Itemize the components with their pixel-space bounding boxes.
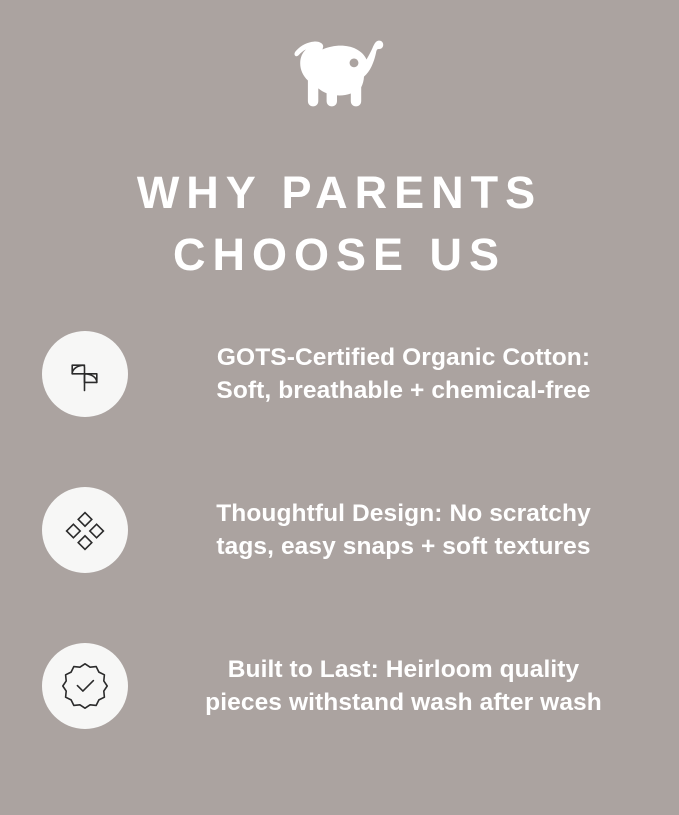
feature-text: GOTS-Certified Organic Cotton: Soft, bre…: [150, 341, 663, 407]
feature-item-thoughtful-design: Thoughtful Design: No scratchy tags, eas…: [0, 452, 679, 608]
feature-text-line-2: Soft, breathable + chemical-free: [216, 377, 590, 404]
feature-text-line-1: GOTS-Certified Organic Cotton:: [217, 344, 590, 371]
badge-check-icon: [61, 662, 109, 710]
feature-icon-circle: [42, 487, 128, 573]
four-diamonds-icon: [63, 508, 107, 552]
feature-icon-circle: [42, 331, 128, 417]
feature-text-line-1: Built to Last: Heirloom quality: [228, 656, 580, 683]
page-title-line-1: WHY PARENTS: [0, 162, 679, 224]
feature-text-line-1: Thoughtful Design: No scratchy: [216, 500, 591, 527]
page-title-line-2: CHOOSE US: [0, 224, 679, 286]
poster-canvas: WHY PARENTS CHOOSE US: [0, 0, 679, 815]
page-title: WHY PARENTS CHOOSE US: [0, 162, 679, 286]
feature-text: Thoughtful Design: No scratchy tags, eas…: [150, 497, 663, 563]
feature-item-organic-cotton: GOTS-Certified Organic Cotton: Soft, bre…: [0, 296, 679, 452]
feature-text: Built to Last: Heirloom quality pieces w…: [150, 653, 663, 719]
feature-text-line-2: tags, easy snaps + soft textures: [216, 533, 590, 560]
feature-icon-circle: [42, 643, 128, 729]
leaf-sprout-icon: [63, 352, 107, 396]
elephant-icon: [292, 39, 388, 111]
feature-item-built-to-last: Built to Last: Heirloom quality pieces w…: [0, 608, 679, 764]
feature-list: GOTS-Certified Organic Cotton: Soft, bre…: [0, 296, 679, 764]
brand-logo: [0, 36, 679, 114]
feature-text-line-2: pieces withstand wash after wash: [205, 689, 602, 716]
